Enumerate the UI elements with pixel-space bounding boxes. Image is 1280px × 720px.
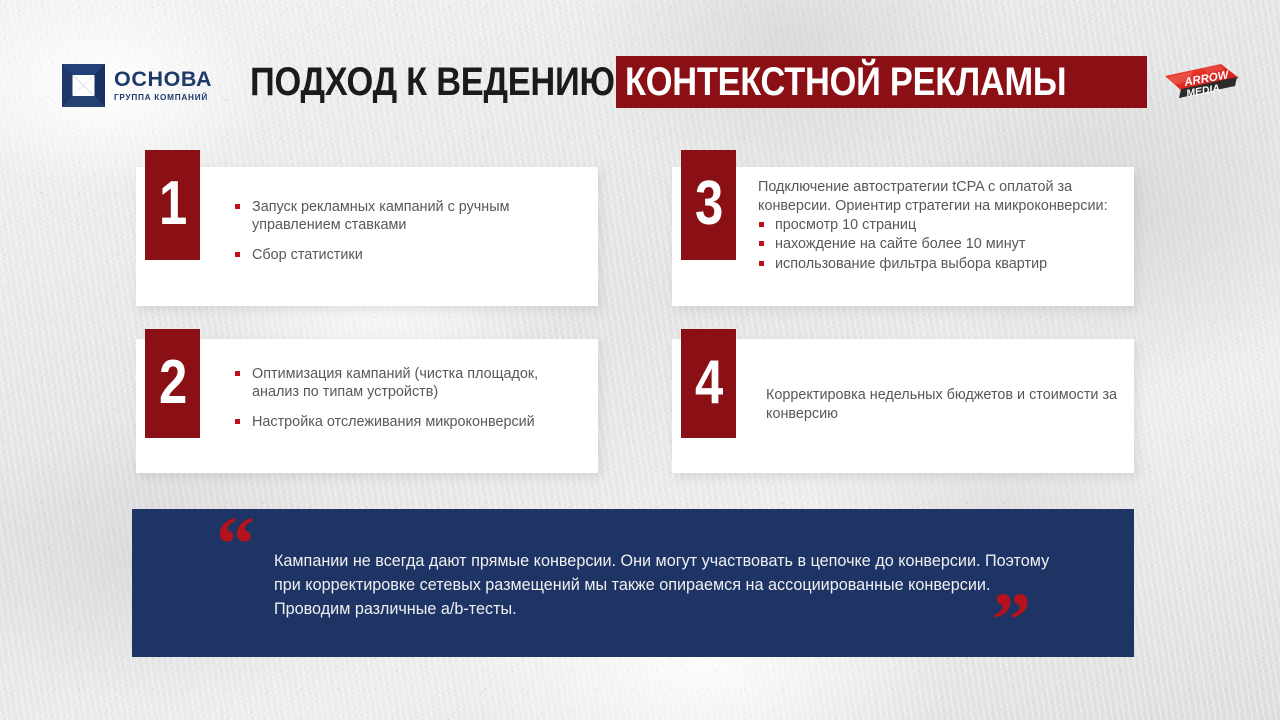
step-card-2-bullet-list: Оптимизация кампаний (чистка площадок, а… [233,365,585,431]
list-item: использование фильтра выбора квартир [758,255,1128,273]
quote-open-mark: “ [216,505,255,583]
page-title-highlight: КОНТЕКСТНОЙ РЕКЛАМЫ [616,56,1147,108]
step-number-2: 2 [159,352,186,414]
step-number-1: 1 [159,173,186,235]
step-number-badge-4: 4 [681,329,736,438]
step-number-badge-3: 3 [681,150,736,260]
step-card-2-body: Оптимизация кампаний (чистка площадок, а… [233,365,585,431]
step-card-1-bullet-list: Запуск рекламных кампаний с ручным управ… [233,198,583,264]
list-item: нахождение на сайте более 10 минут [758,235,1128,253]
page-title: ПОДХОД К ВЕДЕНИЮ КОНТЕКСТНОЙ РЕКЛАМЫ [250,56,1147,108]
step-number-badge-2: 2 [145,329,200,438]
quote-close-mark: ” [992,581,1031,659]
step-card-4-body: Корректировка недельных бюджетов и стоим… [766,386,1126,425]
page-title-highlight-text: КОНТЕКСТНОЙ РЕКЛАМЫ [625,56,1066,108]
step-card-3-bullet-list: просмотр 10 страниц нахождение на сайте … [758,216,1128,273]
list-item: просмотр 10 страниц [758,216,1128,234]
osnova-logo-wordmark: ОСНОВА ГРУППА КОМПАНИЙ [114,68,212,102]
page-title-plain: ПОДХОД К ВЕДЕНИЮ [250,56,615,108]
step-card-3-paragraph: Подключение автостратегии tCPA с оплатой… [758,178,1128,216]
arrow-media-logo-icon: ARROW MEDIA [1163,62,1241,110]
list-item: Оптимизация кампаний (чистка площадок, а… [233,365,585,402]
quote-text: Кампании не всегда дают прямые конверсии… [274,550,1064,621]
quote-callout: “ Кампании не всегда дают прямые конверс… [132,509,1134,657]
step-card-1-body: Запуск рекламных кампаний с ручным управ… [233,198,583,264]
step-number-3: 3 [695,173,722,235]
step-card-4-paragraph: Корректировка недельных бюджетов и стоим… [766,386,1126,425]
osnova-square-frame-icon [62,64,105,107]
list-item: Сбор статистики [233,246,583,264]
osnova-logo-name: ОСНОВА [114,68,212,91]
step-card-3-body: Подключение автостратегии tCPA с оплатой… [758,178,1128,274]
osnova-logo: ОСНОВА ГРУППА КОМПАНИЙ [62,64,212,107]
step-number-4: 4 [695,352,722,414]
step-number-badge-1: 1 [145,150,200,260]
list-item: Запуск рекламных кампаний с ручным управ… [233,198,583,235]
list-item: Настройка отслеживания микроконверсий [233,413,585,431]
slide-background: ОСНОВА ГРУППА КОМПАНИЙ ПОДХОД К ВЕДЕНИЮ … [0,0,1280,720]
osnova-logo-tagline: ГРУППА КОМПАНИЙ [114,93,212,103]
